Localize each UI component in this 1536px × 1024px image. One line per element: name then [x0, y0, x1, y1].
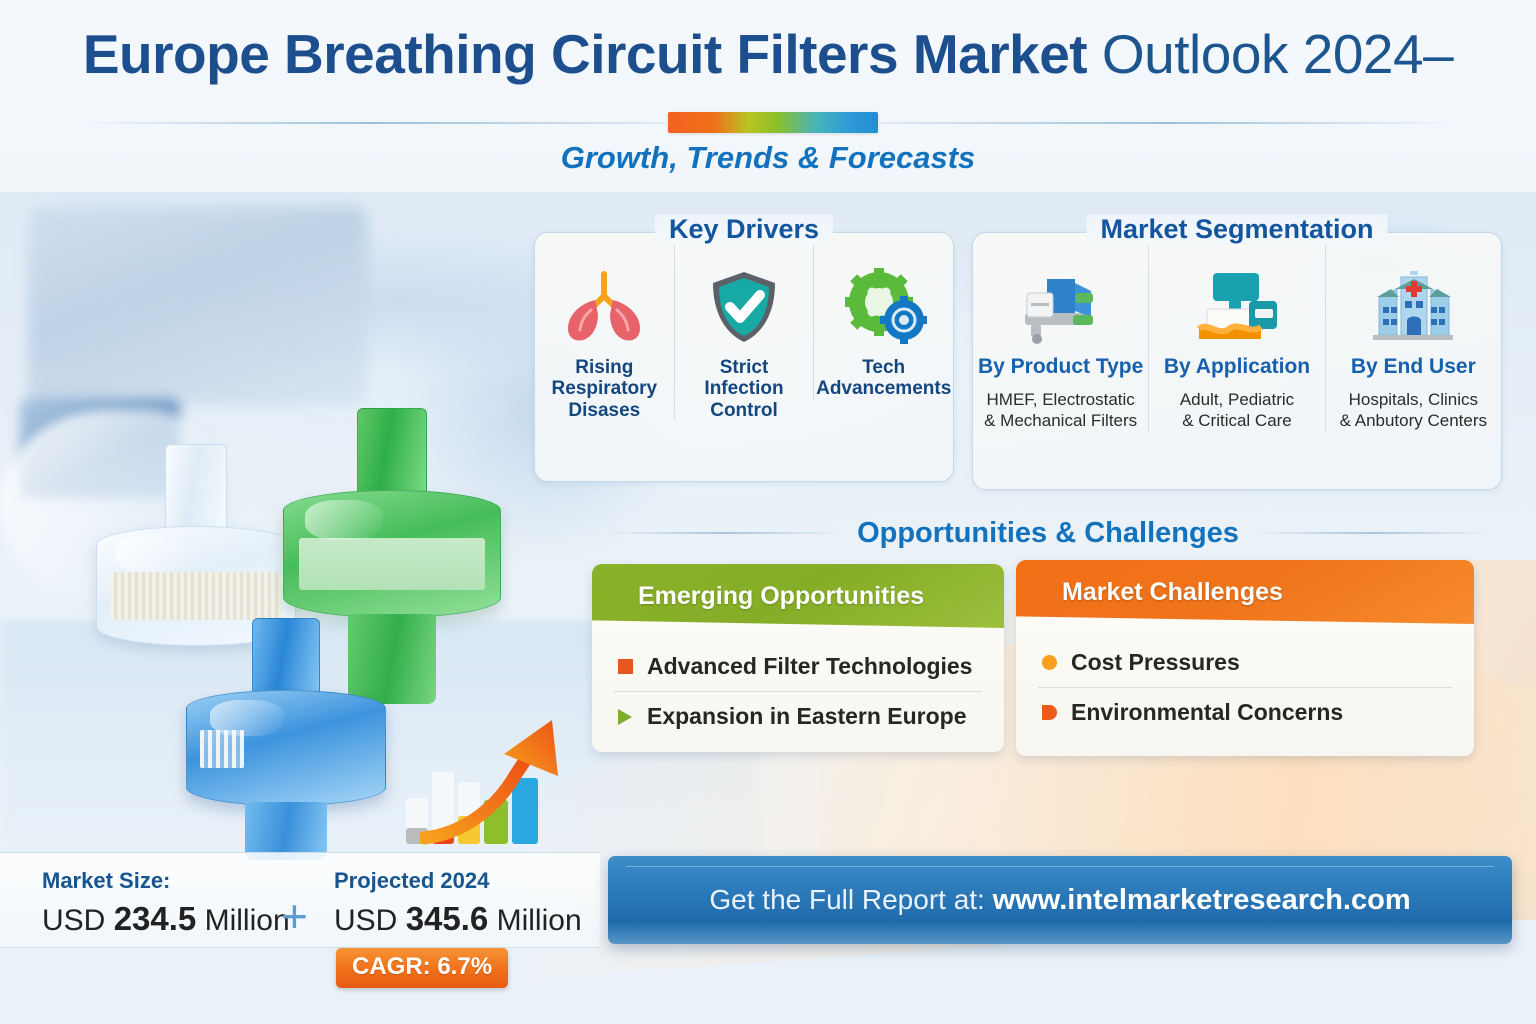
projected-number: 345.6	[406, 900, 489, 937]
key-driver-strict-infection-control: Strict Infection Control	[674, 233, 814, 421]
segment-by-application: By Application Adult, Pediatric & Critic…	[1148, 233, 1324, 432]
emerging-opportunities-card: Emerging Opportunities Advanced Filter T…	[592, 564, 1004, 752]
key-drivers-title: Key Drivers	[655, 214, 833, 245]
dot-bullet-icon	[1042, 655, 1057, 670]
market-size-value: USD 234.5 Million	[42, 900, 290, 938]
hospital-icon	[1365, 265, 1461, 349]
key-driver-label: Rising Respiratory Disases	[552, 357, 658, 421]
lungs-icon	[561, 265, 647, 349]
infographic-canvas: Europe Breathing Circuit Filters Market …	[0, 0, 1536, 1024]
challenge-text: Environmental Concerns	[1071, 699, 1343, 726]
page-title: Europe Breathing Circuit Filters Market …	[0, 22, 1536, 86]
segment-title: By End User	[1351, 355, 1476, 379]
challenge-item: Environmental Concerns	[1038, 687, 1452, 737]
market-challenges-card: Market Challenges Cost Pressures Environ…	[1016, 560, 1474, 756]
page-title-bold: Europe Breathing Circuit Filters Market	[83, 23, 1087, 85]
key-driver-label: Strict Infection Control	[704, 357, 783, 421]
plus-icon: +	[281, 893, 308, 939]
cta-banner[interactable]: Get the Full Report at: www.intelmarketr…	[608, 856, 1512, 944]
projected-value: USD 345.6 Million	[334, 900, 582, 938]
page-title-light: Outlook 2024–	[1087, 23, 1453, 85]
cta-url: www.intelmarketresearch.com	[993, 884, 1411, 916]
gears-icon	[841, 265, 927, 349]
heading-rule-right	[1255, 532, 1488, 534]
segment-desc: Hospitals, Clinics & Anbutory Centers	[1336, 389, 1491, 432]
segment-title: By Application	[1164, 355, 1310, 379]
segment-title: By Product Type	[978, 355, 1143, 379]
market-segmentation-title: Market Segmentation	[1086, 214, 1387, 245]
projected-label: Projected 2024	[334, 868, 582, 894]
page-subtitle: Growth, Trends & Forecasts	[0, 140, 1536, 176]
emerging-opportunities-title: Emerging Opportunities	[592, 564, 1004, 628]
opportunities-challenges-heading: Opportunities & Challenges	[608, 514, 1488, 552]
ventilator-monitor-blur	[28, 206, 368, 406]
key-driver-tech-advancements: Tech Advancements	[813, 233, 953, 400]
growth-arrow-icon	[420, 716, 570, 846]
heading-text: Opportunities & Challenges	[857, 517, 1239, 550]
market-size-label: Market Size:	[42, 868, 290, 894]
segment-desc: HMEF, Electrostatic & Mechanical Filters	[980, 389, 1141, 432]
patient-monitor-icon	[1189, 265, 1285, 349]
segment-desc: Adult, Pediatric & Critical Care	[1176, 389, 1298, 432]
key-driver-rising-respiratory-disases: Rising Respiratory Disases	[535, 233, 674, 421]
title-rule-right	[878, 122, 1458, 124]
market-segmentation-panel: Market Segmentation By	[972, 232, 1502, 490]
key-drivers-panel: Key Drivers Rising Respiratory Disases	[534, 232, 954, 482]
key-driver-label: Tech Advancements	[816, 357, 951, 400]
ventilator-icon	[1013, 265, 1109, 349]
opportunity-item: Advanced Filter Technologies	[614, 642, 982, 691]
square-bullet-icon	[618, 659, 633, 674]
challenge-text: Cost Pressures	[1071, 649, 1240, 676]
title-rule-left	[78, 122, 666, 124]
projected-stat: Projected 2024 USD 345.6 Million	[334, 868, 582, 938]
cagr-badge: CAGR: 6.7%	[336, 948, 508, 988]
segment-by-end-user: By End User Hospitals, Clinics & Anbutor…	[1325, 233, 1501, 432]
half-dot-bullet-icon	[1042, 705, 1057, 720]
cta-text: Get the Full Report at: www.intelmarketr…	[709, 884, 1410, 917]
opportunity-text: Expansion in Eastern Europe	[647, 703, 967, 730]
market-challenges-title: Market Challenges	[1016, 560, 1474, 624]
challenge-item: Cost Pressures	[1038, 638, 1452, 687]
triangle-bullet-icon	[618, 709, 633, 725]
segment-by-product-type: By Product Type HMEF, Electrostatic & Me…	[973, 233, 1148, 432]
market-size-stat: Market Size: USD 234.5 Million	[42, 868, 290, 938]
heading-rule-left	[608, 532, 841, 534]
cta-prefix: Get the Full Report at:	[709, 884, 992, 915]
shield-check-icon	[705, 265, 783, 349]
market-size-number: 234.5	[114, 900, 197, 937]
opportunity-item: Expansion in Eastern Europe	[614, 691, 982, 741]
blue-breathing-filter	[186, 618, 386, 860]
title-gradient-bar	[668, 112, 878, 133]
opportunity-text: Advanced Filter Technologies	[647, 653, 972, 680]
